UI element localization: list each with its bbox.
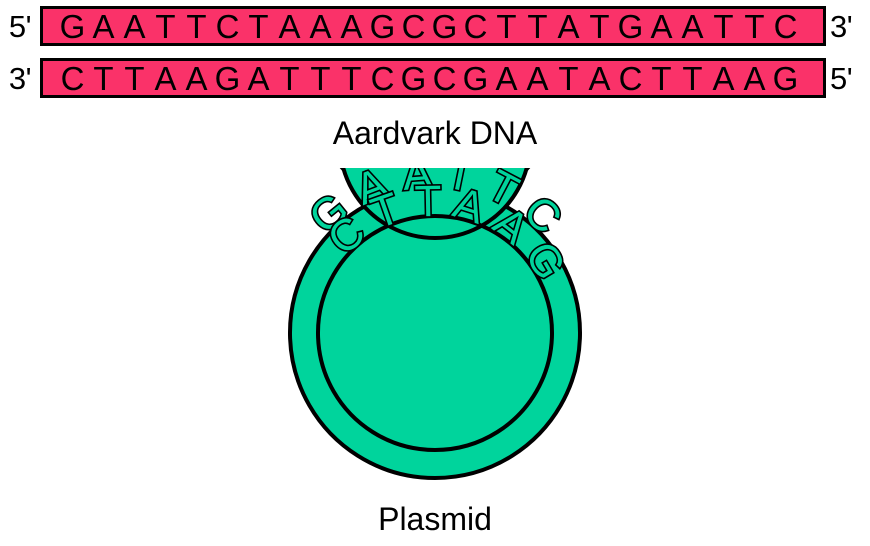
dna-top-strand-row: 5' GAATTCTAAAGCGCTTATGAATTC 3' bbox=[0, 4, 870, 48]
base-15: T bbox=[491, 10, 522, 43]
base-2: T bbox=[88, 62, 119, 95]
dna-bottom-strand-row: 3' CTTAAGATTTCGCGAATACTTAAG 5' bbox=[0, 56, 870, 100]
base-16: A bbox=[522, 62, 553, 95]
base-17: A bbox=[553, 10, 584, 43]
base-14: C bbox=[460, 10, 491, 43]
base-11: C bbox=[367, 62, 398, 95]
base-19: G bbox=[615, 10, 646, 43]
aardvark-dna-caption: Aardvark DNA bbox=[0, 117, 870, 149]
base-5: T bbox=[181, 10, 212, 43]
base-8: T bbox=[274, 62, 305, 95]
base-7: T bbox=[243, 10, 274, 43]
base-22: T bbox=[708, 10, 739, 43]
base-5: A bbox=[181, 62, 212, 95]
top-strand-three-prime-label: 3' bbox=[826, 11, 870, 42]
plasmid-diagram: GAATTC CTTAAG bbox=[0, 168, 870, 498]
base-15: A bbox=[491, 62, 522, 95]
base-13: C bbox=[429, 62, 460, 95]
base-10: T bbox=[336, 62, 367, 95]
base-23: A bbox=[739, 62, 770, 95]
base-23: T bbox=[739, 10, 770, 43]
base-22: A bbox=[708, 62, 739, 95]
base-24: G bbox=[770, 62, 801, 95]
plasmid-caption: Plasmid bbox=[0, 503, 870, 535]
base-19: C bbox=[615, 62, 646, 95]
bottom-strand-five-prime-label: 5' bbox=[826, 63, 870, 94]
base-4: A bbox=[150, 62, 181, 95]
base-20: A bbox=[646, 10, 677, 43]
base-13: G bbox=[429, 10, 460, 43]
base-10: A bbox=[336, 10, 367, 43]
base-18: A bbox=[584, 62, 615, 95]
base-3: A bbox=[119, 10, 150, 43]
base-21: T bbox=[677, 62, 708, 95]
base-1: G bbox=[57, 10, 88, 43]
base-11: G bbox=[367, 10, 398, 43]
base-4: T bbox=[150, 10, 181, 43]
base-14: G bbox=[460, 62, 491, 95]
top-strand-sequence: GAATTCTAAAGCGCTTATGAATTC bbox=[57, 10, 801, 43]
base-1: C bbox=[57, 62, 88, 95]
bottom-strand-bar: CTTAAGATTTCGCGAATACTTAAG bbox=[40, 58, 826, 98]
base-9: T bbox=[305, 62, 336, 95]
bottom-strand-three-prime-label: 3' bbox=[0, 63, 40, 94]
base-8: A bbox=[274, 10, 305, 43]
base-20: T bbox=[646, 62, 677, 95]
top-strand-bar: GAATTCTAAAGCGCTTATGAATTC bbox=[40, 6, 826, 46]
base-6: G bbox=[212, 62, 243, 95]
base-7: A bbox=[243, 62, 274, 95]
base-18: T bbox=[584, 10, 615, 43]
base-12: G bbox=[398, 62, 429, 95]
plasmid-figure: GAATTC CTTAAG bbox=[0, 168, 870, 498]
base-2: A bbox=[88, 10, 119, 43]
base-24: C bbox=[770, 10, 801, 43]
base-12: C bbox=[398, 10, 429, 43]
base-16: T bbox=[522, 10, 553, 43]
top-strand-five-prime-label: 5' bbox=[0, 11, 40, 42]
base-21: A bbox=[677, 10, 708, 43]
base-9: A bbox=[305, 10, 336, 43]
base-6: C bbox=[212, 10, 243, 43]
base-17: T bbox=[553, 62, 584, 95]
bottom-strand-sequence: CTTAAGATTTCGCGAATACTTAAG bbox=[57, 62, 801, 95]
aardvark-dna-figure: 5' GAATTCTAAAGCGCTTATGAATTC 3' 3' CTTAAG… bbox=[0, 0, 870, 160]
base-3: T bbox=[119, 62, 150, 95]
